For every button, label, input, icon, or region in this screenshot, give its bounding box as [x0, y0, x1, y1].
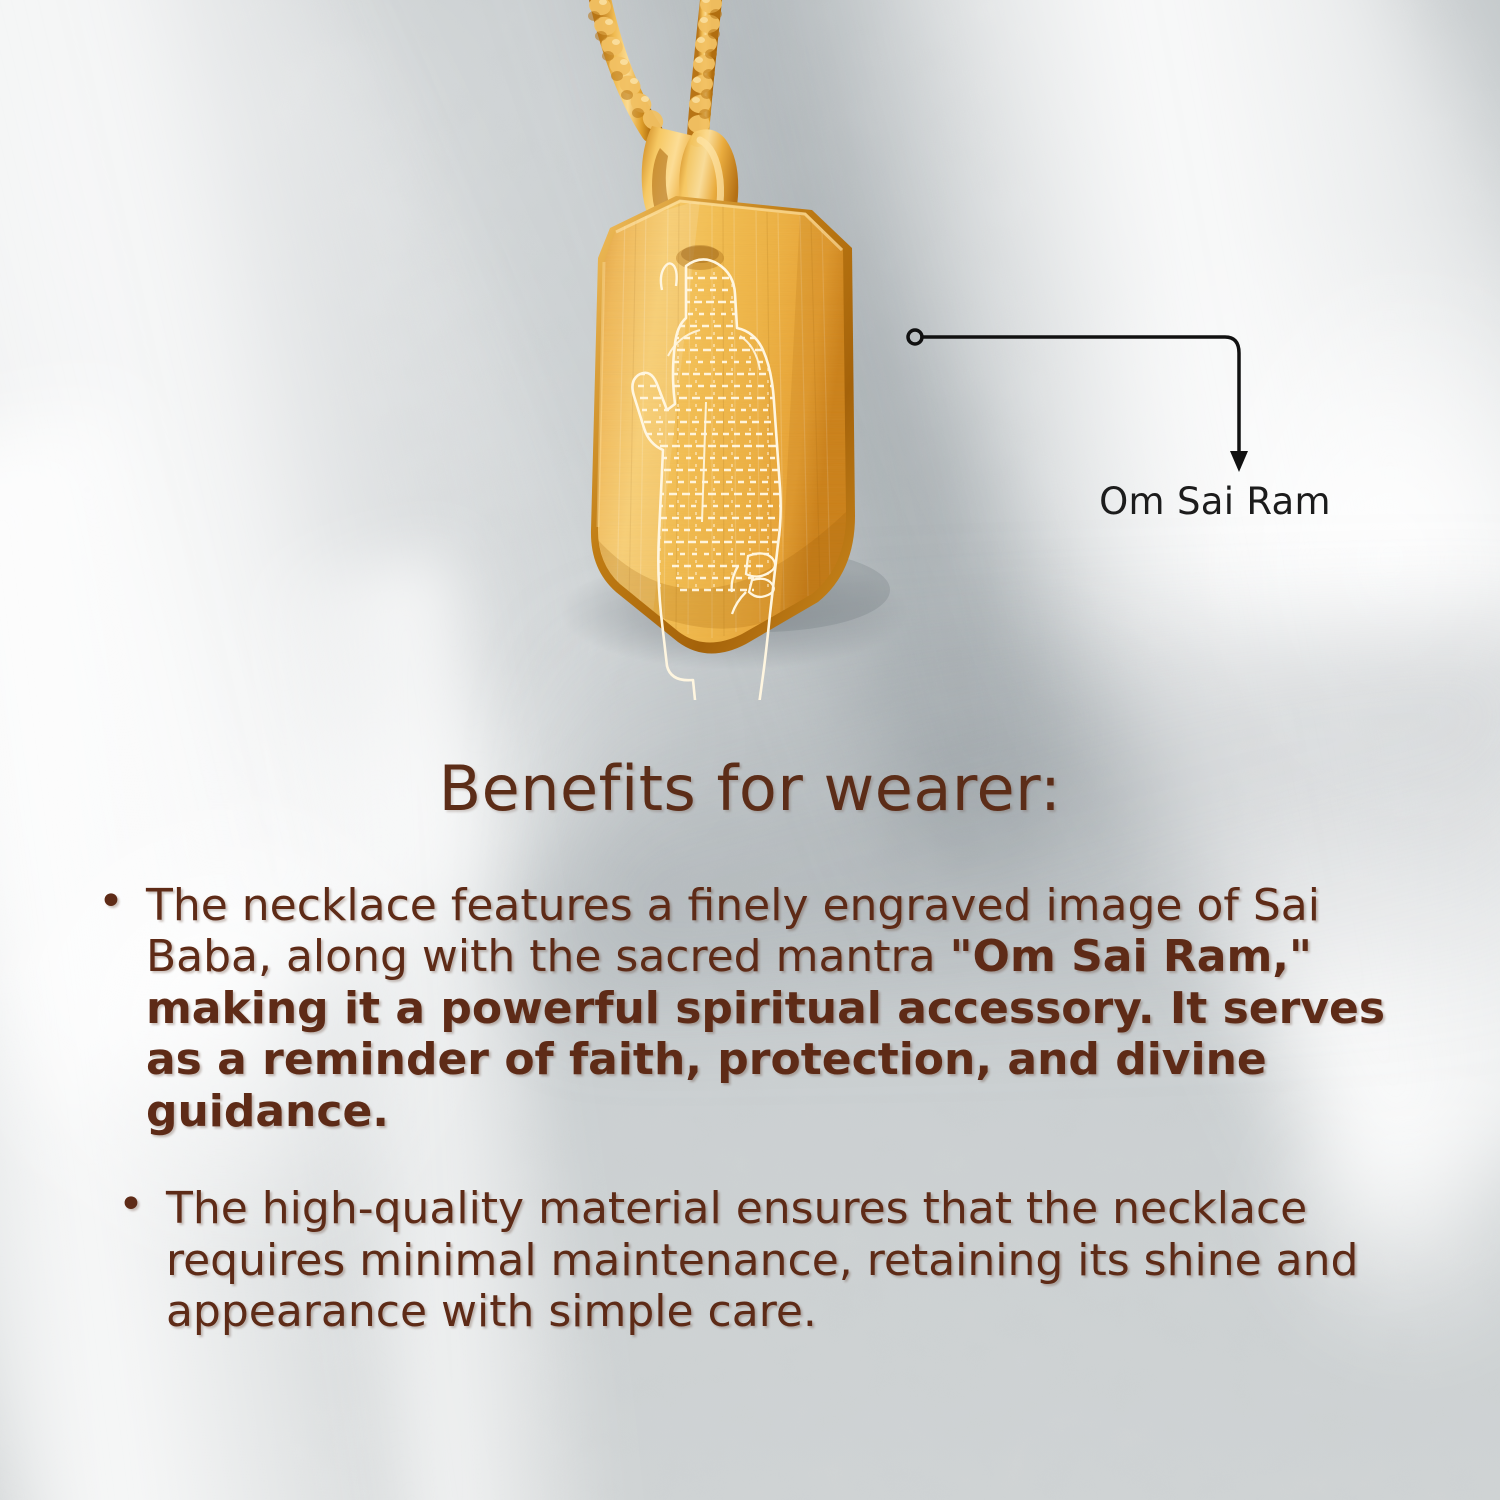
benefits-list: • The necklace features a finely engrave… [0, 880, 1500, 1338]
callout-line [922, 337, 1239, 453]
list-item-text: The necklace features a finely engraved … [146, 880, 1420, 1137]
callout-connector [905, 325, 1285, 485]
page-title: Benefits for wearer: [0, 752, 1500, 825]
list-item-text: The high-quality material ensures that t… [166, 1183, 1380, 1337]
chain-right [687, 0, 723, 136]
list-item: • The high-quality material ensures that… [0, 1183, 1500, 1337]
bullet-marker: • [118, 1183, 144, 1227]
chain-left [587, 0, 667, 134]
list-item: • The necklace features a finely engrave… [0, 880, 1500, 1137]
callout-arrow-icon [1230, 451, 1248, 472]
callout-start-circle [908, 330, 922, 344]
infographic-canvas: Om Sai Ram Benefits for wearer: • The ne… [0, 0, 1500, 1500]
callout-label: Om Sai Ram [1055, 480, 1375, 523]
bullet-marker: • [98, 880, 124, 924]
